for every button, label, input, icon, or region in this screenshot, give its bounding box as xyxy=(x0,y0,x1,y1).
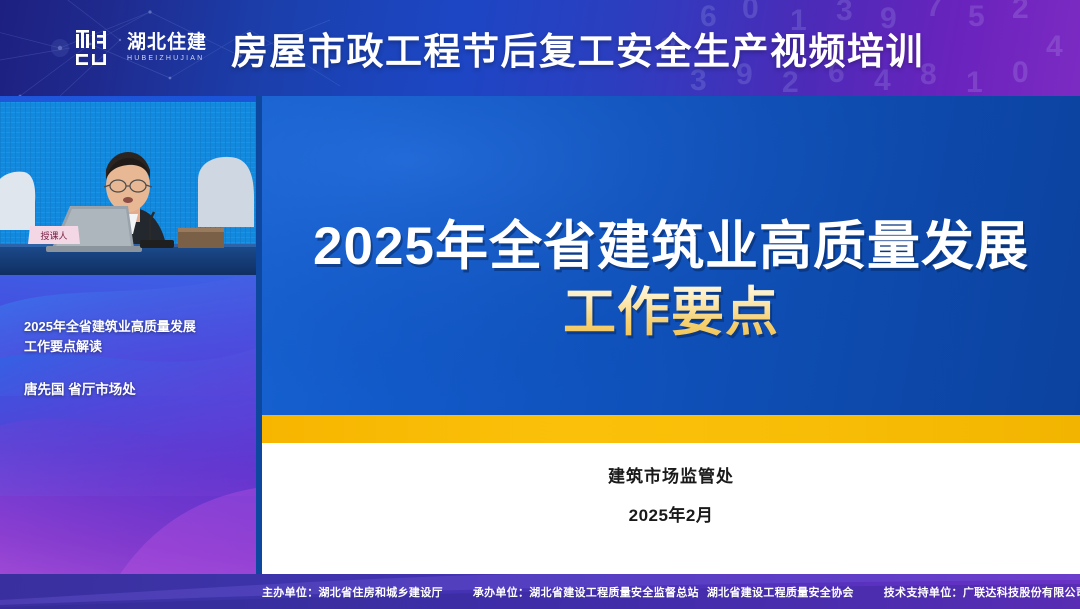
video-frame-image: 授课人 xyxy=(0,102,256,275)
page-header: 60 13 97 52 39 26 48 10 84 xyxy=(0,0,1080,96)
slide-subtitle-date: 2025年2月 xyxy=(262,503,1080,529)
footer-item-tech-support: 技术支持单位：广联达科技股份有限公司 xyxy=(884,584,1080,600)
slide-title-line2: 工作要点 xyxy=(262,280,1080,346)
svg-text:授课人: 授课人 xyxy=(40,230,67,241)
presentation-screen: 60 13 97 52 39 26 48 10 84 xyxy=(0,0,1080,609)
footer-item-host: 主办单位：湖北省住房和城乡建设厅 xyxy=(262,584,443,600)
slide-title-line1: 2025年全省建筑业高质量发展 xyxy=(262,214,1080,280)
left-video-panel: 授课人 2025年全省建筑业高质量发展 工作要点解读 唐先国 省厅市场处 xyxy=(0,96,256,574)
slide-footer-area: 建筑市场监管处 2025年2月 xyxy=(262,443,1080,574)
caption-title-line1: 2025年全省建筑业高质量发展 xyxy=(24,317,242,337)
caption-title-line2: 工作要点解读 xyxy=(24,337,242,357)
footer-item-organizer: 承办单位：湖北省建设工程质量安全监督总站 xyxy=(473,584,699,600)
hubei-zhujian-logo: 湖北住建 HUBEIZHUJIAN xyxy=(74,28,207,68)
header-title: 房屋市政工程节后复工安全生产视频培训 xyxy=(231,21,924,75)
footer-credits: 主办单位：湖北省住房和城乡建设厅 承办单位：湖北省建设工程质量安全监督总站 湖北… xyxy=(262,584,1080,600)
slide-accent-bar xyxy=(262,415,1080,443)
slide-main-title: 2025年全省建筑业高质量发展 工作要点 xyxy=(262,214,1080,346)
video-feed[interactable]: 授课人 xyxy=(0,102,256,275)
slide-subtitle-department: 建筑市场监管处 xyxy=(262,464,1080,490)
video-caption: 2025年全省建筑业高质量发展 工作要点解读 唐先国 省厅市场处 xyxy=(24,317,242,399)
caption-speaker: 唐先国 省厅市场处 xyxy=(24,381,242,399)
slide-subtitle-block: 建筑市场监管处 2025年2月 xyxy=(262,464,1080,529)
hubei-zhujian-logo-icon xyxy=(74,28,118,68)
footer-item-association: 湖北省建设工程质量安全协会 xyxy=(707,584,854,600)
logo-text-en: HUBEIZHUJIAN xyxy=(127,54,207,64)
logo-text-cn: 湖北住建 xyxy=(127,32,207,53)
slide-content: 2025年全省建筑业高质量发展 工作要点 建筑市场监管处 2025年2月 xyxy=(262,96,1080,574)
slide-title-area: 2025年全省建筑业高质量发展 工作要点 xyxy=(262,96,1080,415)
page-footer: 主办单位：湖北省住房和城乡建设厅 承办单位：湖北省建设工程质量安全监督总站 湖北… xyxy=(0,574,1080,609)
